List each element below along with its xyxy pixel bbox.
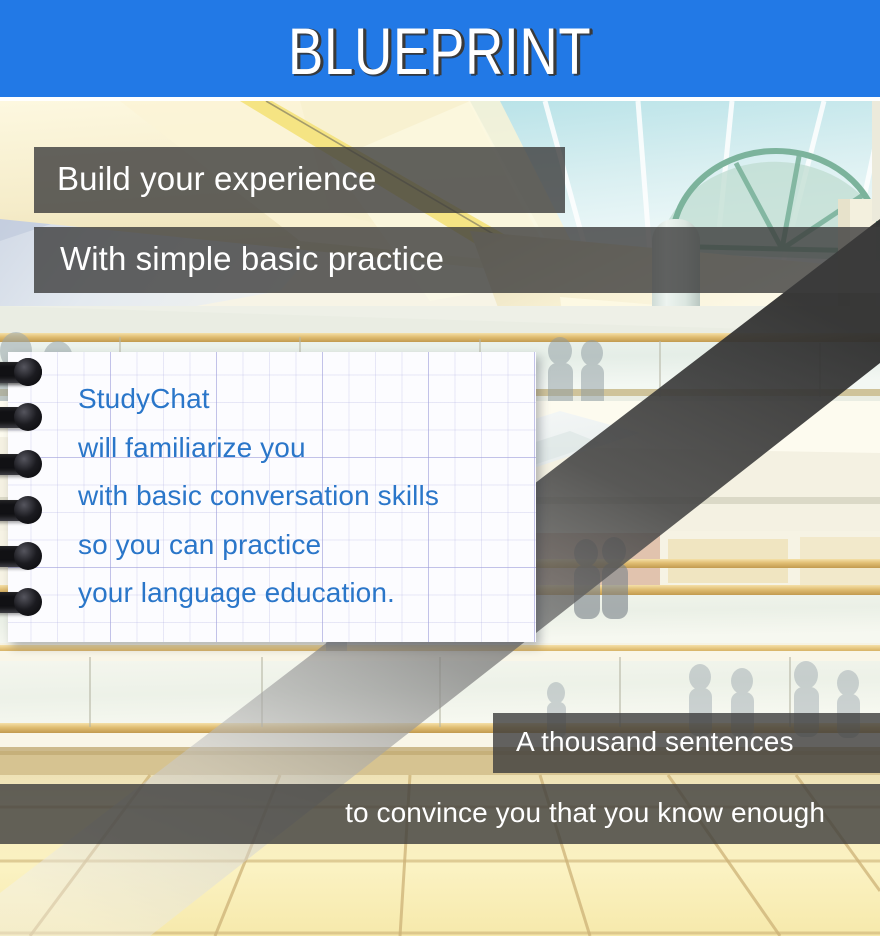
headline-convince-text: to convince you that you know enough bbox=[345, 799, 825, 830]
title-banner: BLUEPRINT bbox=[0, 0, 880, 97]
headline-build-text: Build your experience bbox=[57, 162, 376, 198]
notepad-card: StudyChat will familiarize you with basi… bbox=[8, 352, 536, 642]
spiral-ring-icon bbox=[0, 500, 34, 521]
headline-bar-build: Build your experience bbox=[34, 147, 565, 213]
spiral-ring-icon bbox=[0, 592, 34, 613]
notepad-body-text: StudyChat will familiarize you with basi… bbox=[78, 375, 439, 618]
notepad-spiral-binding bbox=[0, 362, 46, 632]
spiral-ring-icon bbox=[0, 546, 34, 567]
page-title: BLUEPRINT bbox=[288, 14, 592, 84]
poster-root: BLUEPRINT bbox=[0, 0, 880, 936]
headline-practice-text: With simple basic practice bbox=[60, 242, 444, 278]
spiral-ring-icon bbox=[0, 454, 34, 475]
headline-bar-convince: to convince you that you know enough bbox=[0, 784, 880, 844]
headline-thousand-text: A thousand sentences bbox=[516, 728, 794, 759]
headline-bar-practice: With simple basic practice bbox=[34, 227, 880, 293]
spiral-ring-icon bbox=[0, 407, 34, 428]
headline-bar-thousand: A thousand sentences bbox=[493, 713, 880, 773]
